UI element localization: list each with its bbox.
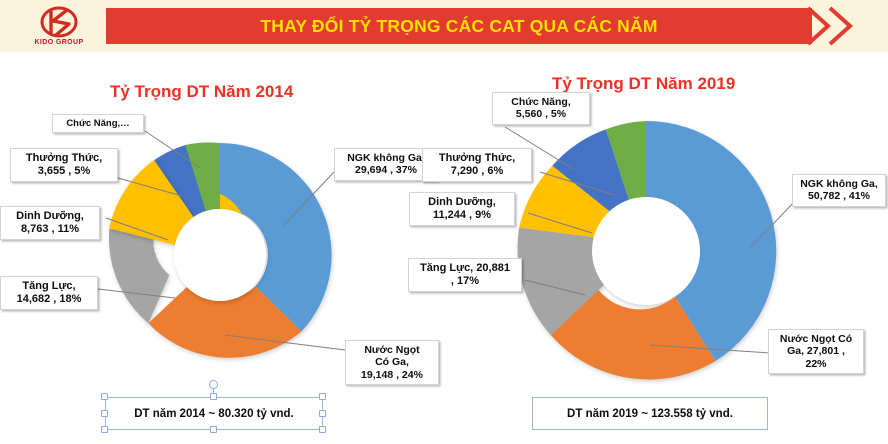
label-dinh-duong-2019[interactable]: Dinh Dưỡng, 11,244 , 9% <box>409 192 515 226</box>
resize-handle-nw[interactable] <box>101 393 108 400</box>
rotate-handle-2014[interactable] <box>209 380 218 389</box>
label-thuong-thuc-2019[interactable]: Thưởng Thức, 7,290 , 6% <box>422 148 532 182</box>
resize-handle-n[interactable] <box>210 393 217 400</box>
label-chuc-nang-2014[interactable]: Chức Năng,… <box>52 114 144 133</box>
label-nuoc-ngot-co-ga-2019[interactable]: Nước Ngọt Có Ga, 27,801 , 22% <box>768 329 864 374</box>
resize-handle-se[interactable] <box>319 426 326 433</box>
resize-handle-w[interactable] <box>101 410 108 417</box>
label-tang-luc-2019[interactable]: Tăng Lực, 20,881 , 17% <box>408 258 522 292</box>
resize-handle-ne[interactable] <box>319 393 326 400</box>
resize-handle-e[interactable] <box>319 410 326 417</box>
label-dinh-duong-2014[interactable]: Dinh Dưỡng, 8,763 , 11% <box>0 206 100 240</box>
footnote-textbox-2019[interactable]: DT năm 2019 ~ 123.558 tỷ vnd. <box>532 397 768 430</box>
label-tang-luc-2014[interactable]: Tăng Lực, 14,682 , 18% <box>0 276 98 310</box>
label-ngk-khong-ga-2019[interactable]: NGK không Ga, 50,782 , 41% <box>792 174 886 207</box>
slide-canvas: KIDO GROUP THAY ĐỔI TỶ TRỌNG CÁC CAT QUA… <box>0 0 888 444</box>
resize-handle-s[interactable] <box>210 426 217 433</box>
resize-handle-sw[interactable] <box>101 426 108 433</box>
label-chuc-nang-2019[interactable]: Chức Năng, 5,560 , 5% <box>492 92 590 125</box>
label-thuong-thuc-2014[interactable]: Thưởng Thức, 3,655 , 5% <box>10 148 118 182</box>
